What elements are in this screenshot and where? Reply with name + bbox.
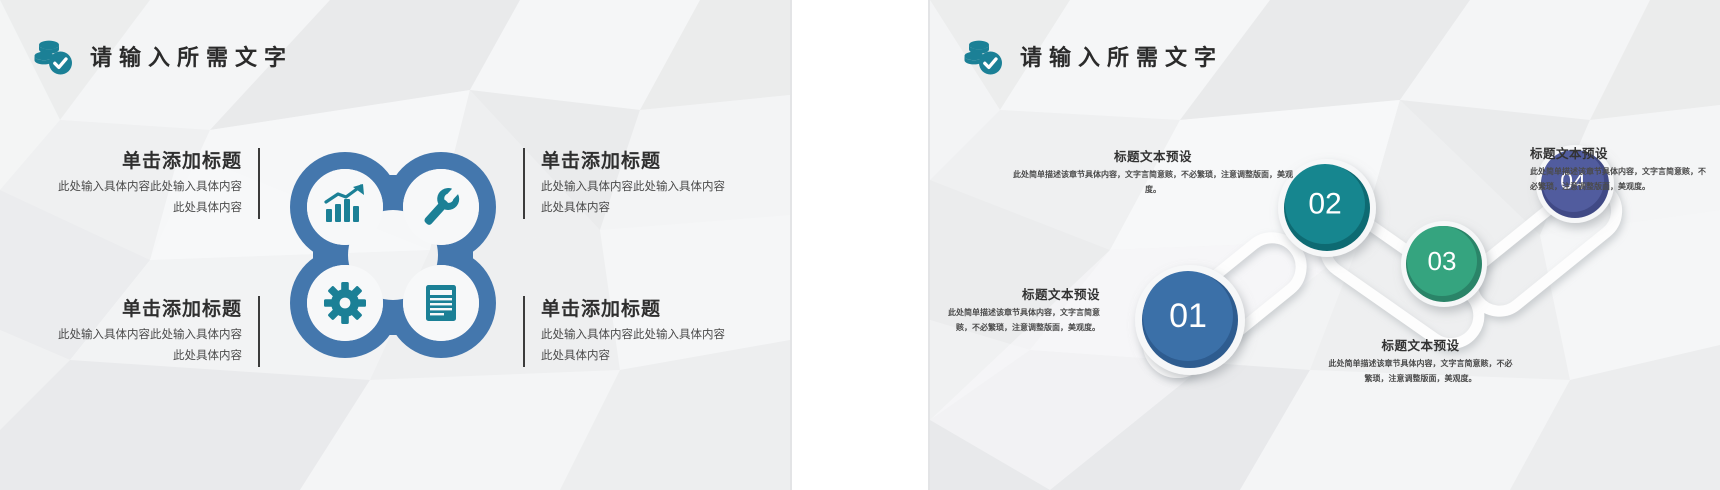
step-body: 此处简单描述该章节具体内容，文字言简意赅，不必繁琐，注意调整版面，美观度。 [1328,356,1513,387]
node-document [403,265,479,341]
chain-node-01-number: 01 [1169,297,1207,335]
step-body: 此处简单描述该章节具体内容，文字言简意赅，不必繁琐，注意调整版面，美观度。 [940,305,1100,336]
step-title: 标题文本预设 [1008,148,1298,167]
node-gear [307,265,383,341]
coins-check-icon [962,36,1006,76]
block-line-2: 此处具体内容 [541,346,773,367]
block-line-2: 此处具体内容 [541,198,773,219]
text-block-top-right[interactable]: 单击添加标题 此处输入具体内容此处输入具体内容 此处具体内容 [523,148,773,219]
block-line-2: 此处具体内容 [20,346,242,367]
gutter-edge-left [790,0,792,490]
block-line-1: 此处输入具体内容此处输入具体内容 [541,177,773,198]
node-growth-chart [307,169,383,245]
step-title: 标题文本预设 [1530,145,1710,164]
chain-node-03-number: 03 [1428,246,1457,276]
step-text-01[interactable]: 标题文本预设 此处简单描述该章节具体内容，文字言简意赅，不必繁琐，注意调整版面，… [940,286,1100,336]
step-title: 标题文本预设 [940,286,1100,305]
step-text-02[interactable]: 标题文本预设 此处简单描述该章节具体内容，文字言简意赅，不必繁琐，注意调整版面，… [1008,148,1298,198]
block-title: 单击添加标题 [541,148,773,177]
block-line-1: 此处输入具体内容此处输入具体内容 [20,325,242,346]
slide-1[interactable]: 请输入所需文字 单击添加标题 此处输入具体内容此处输入具体内容 此处具体内容 单… [0,0,790,490]
chain-node-01: 01 [1135,265,1245,375]
coins-check-icon [32,36,76,76]
block-title: 单击添加标题 [20,296,242,325]
text-block-bottom-right[interactable]: 单击添加标题 此处输入具体内容此处输入具体内容 此处具体内容 [523,296,773,367]
block-title: 单击添加标题 [20,148,242,177]
slide-2[interactable]: 请输入所需文字 [930,0,1720,490]
slide-1-header: 请输入所需文字 [32,36,293,76]
node-wrench [403,169,479,245]
chain-node-02-number: 02 [1308,188,1341,221]
flower-body [283,145,503,365]
slide-2-header: 请输入所需文字 [962,36,1223,76]
step-title: 标题文本预设 [1328,337,1513,356]
step-text-04[interactable]: 标题文本预设 此处简单描述该章节具体内容，文字言简意赅，不必繁琐，注意调整版面，… [1530,145,1710,195]
slide-deck: 请输入所需文字 单击添加标题 此处输入具体内容此处输入具体内容 此处具体内容 单… [0,0,1720,490]
text-block-top-left[interactable]: 单击添加标题 此处输入具体内容此处输入具体内容 此处具体内容 [20,148,260,219]
text-block-bottom-left[interactable]: 单击添加标题 此处输入具体内容此处输入具体内容 此处具体内容 [20,296,260,367]
slide-gutter [790,0,930,490]
block-line-2: 此处具体内容 [20,198,242,219]
slide-2-title: 请输入所需文字 [1020,40,1223,72]
chain-node-03: 03 [1401,221,1487,307]
step-text-03[interactable]: 标题文本预设 此处简单描述该章节具体内容，文字言简意赅，不必繁琐，注意调整版面，… [1328,337,1513,387]
four-node-diagram[interactable] [283,145,503,365]
block-line-1: 此处输入具体内容此处输入具体内容 [541,325,773,346]
step-body: 此处简单描述该章节具体内容，文字言简意赅，不必繁琐，注意调整版面，美观度。 [1530,164,1710,195]
step-body: 此处简单描述该章节具体内容，文字言简意赅，不必繁琐，注意调整版面，美观度。 [1008,167,1298,198]
slide-1-title: 请输入所需文字 [90,40,293,72]
block-line-1: 此处输入具体内容此处输入具体内容 [20,177,242,198]
block-title: 单击添加标题 [541,296,773,325]
